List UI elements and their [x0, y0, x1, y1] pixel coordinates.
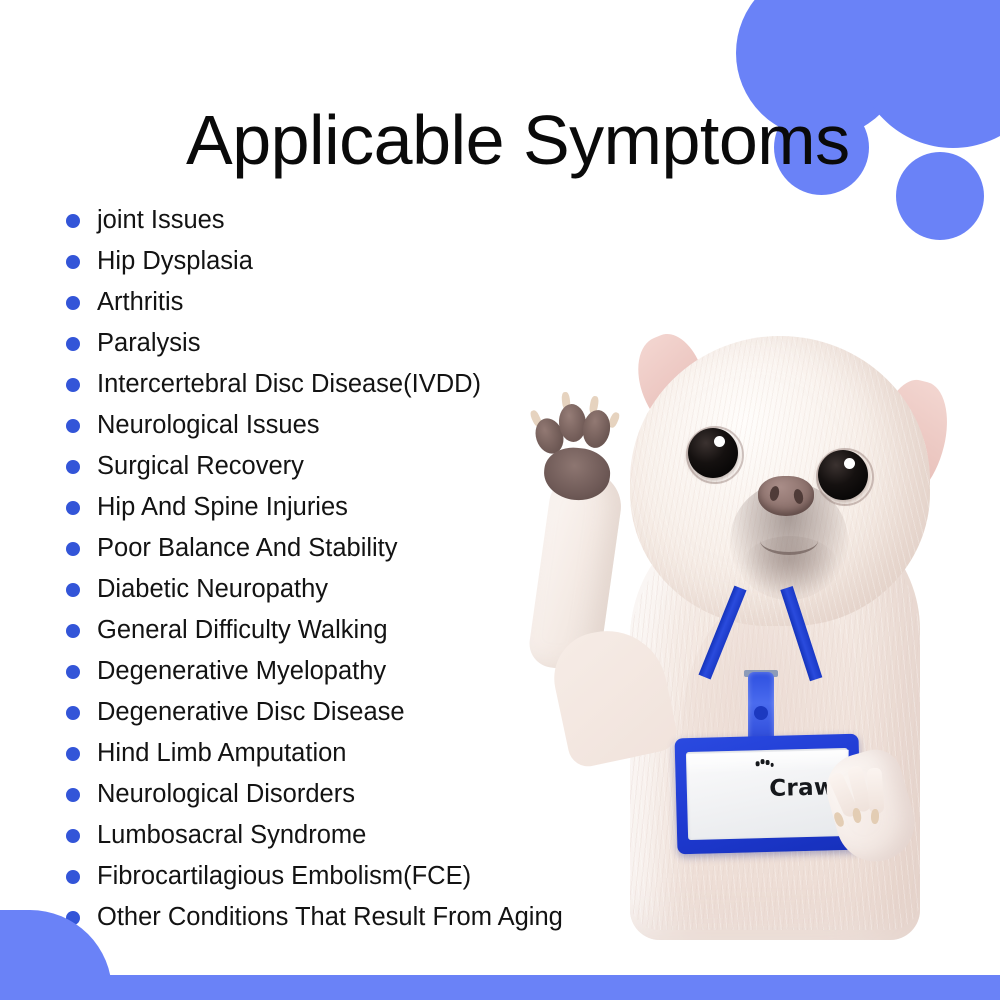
- dog-finger: [866, 768, 884, 815]
- symptom-label: Hind Limb Amputation: [97, 741, 346, 767]
- poster-canvas: Applicable Symptoms: [0, 0, 1000, 1000]
- bullet-icon: [66, 378, 80, 392]
- bullet-icon: [66, 870, 80, 884]
- symptom-list-item: Degenerative Myelopathy: [66, 651, 686, 692]
- bullet-icon: [66, 296, 80, 310]
- bullet-icon: [66, 501, 80, 515]
- symptom-label: Hip Dysplasia: [97, 249, 253, 275]
- symptom-label: Degenerative Disc Disease: [97, 700, 405, 726]
- symptom-list-item: Diabetic Neuropathy: [66, 569, 686, 610]
- symptom-label: Diabetic Neuropathy: [97, 577, 328, 603]
- symptom-list-item: Arthritis: [66, 282, 686, 323]
- dog-eye-glint-right: [844, 458, 855, 469]
- symptom-list-item: Poor Balance And Stability: [66, 528, 686, 569]
- symptom-label: Arthritis: [97, 290, 183, 316]
- dog-eye-left: [688, 428, 738, 478]
- bullet-icon: [66, 665, 80, 679]
- symptom-list-item: General Difficulty Walking: [66, 610, 686, 651]
- symptom-list-item: Hip Dysplasia: [66, 241, 686, 282]
- bullet-icon: [66, 214, 80, 228]
- symptom-list-item: Neurological Disorders: [66, 774, 686, 815]
- bullet-icon: [66, 788, 80, 802]
- dog-eye-glint-left: [714, 436, 725, 447]
- bullet-icon: [66, 419, 80, 433]
- bullet-icon: [66, 624, 80, 638]
- bullet-icon: [66, 747, 80, 761]
- symptom-list-item: Other Conditions That Result From Aging: [66, 897, 686, 938]
- bullet-icon: [66, 255, 80, 269]
- bullet-icon: [66, 706, 80, 720]
- symptom-list-item: joint Issues: [66, 200, 686, 241]
- symptom-label: Paralysis: [97, 331, 200, 357]
- bullet-icon: [66, 542, 80, 556]
- symptom-label: Surgical Recovery: [97, 454, 304, 480]
- symptom-list-item: Fibrocartilagious Embolism(FCE): [66, 856, 686, 897]
- symptom-label: Hip And Spine Injuries: [97, 495, 348, 521]
- dog-eye-right: [818, 450, 868, 500]
- deco-circle-4: [896, 152, 984, 240]
- symptom-label: Degenerative Myelopathy: [97, 659, 386, 685]
- symptom-label: Neurological Issues: [97, 413, 320, 439]
- symptom-label: Poor Balance And Stability: [97, 536, 398, 562]
- symptom-label: Lumbosacral Syndrome: [97, 823, 366, 849]
- symptom-label: Fibrocartilagious Embolism(FCE): [97, 864, 471, 890]
- symptom-label: Intercertebral Disc Disease(IVDD): [97, 372, 481, 398]
- symptom-label: joint Issues: [97, 208, 225, 234]
- bullet-icon: [66, 583, 80, 597]
- bullet-icon: [66, 829, 80, 843]
- symptom-list-item: Surgical Recovery: [66, 446, 686, 487]
- symptom-list-item: Hind Limb Amputation: [66, 733, 686, 774]
- symptom-list-item: Intercertebral Disc Disease(IVDD): [66, 364, 686, 405]
- symptom-list-item: Degenerative Disc Disease: [66, 692, 686, 733]
- bottom-blue-band: [0, 975, 1000, 1000]
- symptom-list-item: Paralysis: [66, 323, 686, 364]
- bullet-icon: [66, 460, 80, 474]
- page-title: Applicable Symptoms: [186, 105, 850, 175]
- symptom-list-item: Neurological Issues: [66, 405, 686, 446]
- symptom-list: joint IssuesHip DysplasiaArthritisParaly…: [66, 200, 686, 938]
- symptom-label: Neurological Disorders: [97, 782, 355, 808]
- symptom-list-item: Hip And Spine Injuries: [66, 487, 686, 528]
- symptom-label: General Difficulty Walking: [97, 618, 388, 644]
- lanyard-clip-dot: [754, 706, 768, 720]
- dog-nose: [758, 476, 814, 516]
- symptom-label: Other Conditions That Result From Aging: [97, 905, 563, 931]
- bullet-icon: [66, 337, 80, 351]
- deco-circle-2: [855, 0, 1000, 148]
- symptom-list-item: Lumbosacral Syndrome: [66, 815, 686, 856]
